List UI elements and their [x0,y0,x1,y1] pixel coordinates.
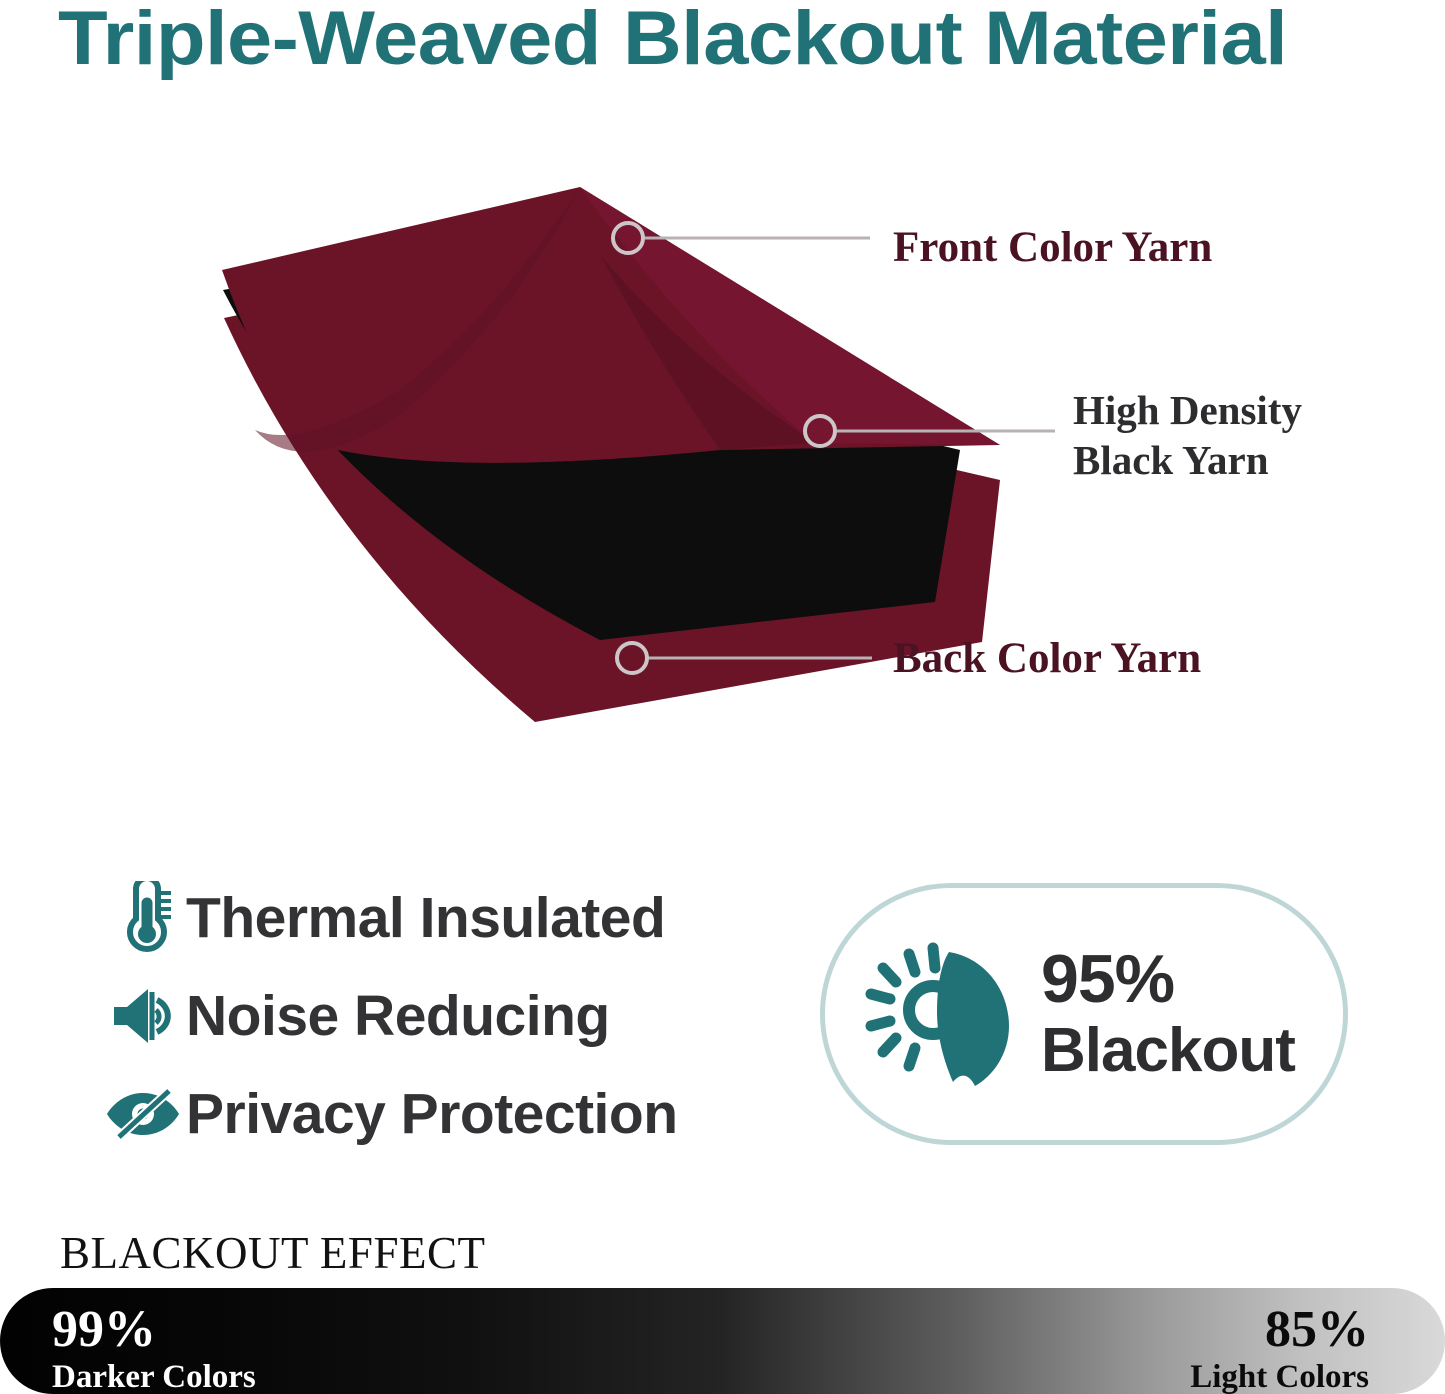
eye-slash-icon [100,1087,186,1141]
gradient-bar-light-label: Light Colors [1190,1358,1369,1394]
feature-label: Thermal Insulated [186,888,665,948]
blackout-percentage-badge: 95% Blackout [820,883,1348,1145]
gradient-bar-darker-percent: 99% [52,1302,256,1358]
sun-blocked-icon [865,934,1015,1094]
gradient-bar-darker-label: Darker Colors [52,1358,256,1394]
gradient-bar-light-colors: 85% Light Colors [1190,1302,1369,1394]
callout-label-front-color-yarn: Front Color Yarn [893,221,1212,275]
callout-label-line2: Black Yarn [1073,435,1302,485]
callout-label-line1: High Density [1073,387,1302,433]
feature-list: Thermal Insulated Noise Reducing [100,872,760,1166]
thermometer-icon [100,881,186,955]
blackout-label: Blackout [1041,1016,1295,1086]
callout-label-back-color-yarn: Back Color Yarn [893,632,1201,686]
feature-item-privacy-protection: Privacy Protection [100,1068,760,1160]
gradient-bar-light-percent: 85% [1190,1302,1369,1358]
feature-item-thermal-insulated: Thermal Insulated [100,872,760,964]
callout-label-high-density-black-yarn: High Density Black Yarn [1073,385,1302,485]
feature-label: Noise Reducing [186,986,610,1046]
blackout-badge-text: 95% Blackout [1041,942,1295,1086]
feature-item-noise-reducing: Noise Reducing [100,970,760,1062]
speaker-icon [100,986,186,1046]
blackout-percent: 95% [1041,942,1295,1016]
page-title: Triple-Weaved Blackout Material [58,0,1445,82]
feature-label: Privacy Protection [186,1084,678,1144]
infographic-page: Triple-Weaved Blackout Material [0,0,1445,1394]
blackout-effect-heading: BLACKOUT EFFECT [60,1228,485,1278]
gradient-bar-darker-colors: 99% Darker Colors [52,1302,256,1394]
blackout-effect-gradient-bar: 99% Darker Colors 85% Light Colors [0,1288,1445,1394]
